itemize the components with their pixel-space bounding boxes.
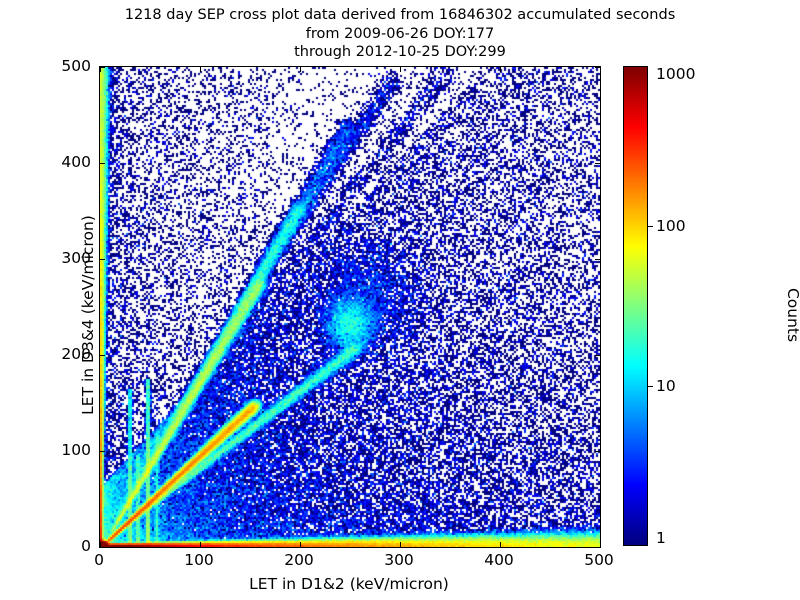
y-tick-mark bbox=[100, 547, 105, 548]
x-tick-label: 200 bbox=[284, 551, 314, 569]
colorbar-label: Counts bbox=[784, 165, 800, 465]
figure-container: 1218 day SEP cross plot data derived fro… bbox=[0, 0, 800, 600]
colorbar-tick-label: 100 bbox=[656, 217, 686, 235]
y-tick-mark bbox=[595, 355, 600, 356]
y-tick-label: 0 bbox=[40, 537, 91, 555]
x-tick-mark bbox=[600, 67, 601, 72]
x-tick-label: 0 bbox=[94, 551, 104, 569]
chart-title-line-3: through 2012-10-25 DOY:299 bbox=[0, 43, 800, 62]
y-tick-mark bbox=[100, 355, 105, 356]
y-tick-mark bbox=[100, 163, 105, 164]
y-tick-label: 500 bbox=[40, 57, 91, 75]
x-axis-label: LET in D1&2 (keV/micron) bbox=[99, 575, 599, 593]
y-tick-mark bbox=[595, 67, 600, 68]
x-tick-mark bbox=[400, 67, 401, 72]
y-tick-mark bbox=[100, 451, 105, 452]
colorbar-tick-mark bbox=[648, 386, 653, 387]
x-tick-mark bbox=[400, 542, 401, 547]
colorbar-gradient bbox=[623, 66, 648, 546]
chart-title-line-1: 1218 day SEP cross plot data derived fro… bbox=[0, 6, 800, 25]
x-tick-mark bbox=[200, 67, 201, 72]
x-tick-mark bbox=[300, 542, 301, 547]
colorbar-tick-mark bbox=[648, 226, 653, 227]
x-tick-label: 400 bbox=[484, 551, 514, 569]
y-tick-mark bbox=[595, 163, 600, 164]
y-tick-mark bbox=[100, 259, 105, 260]
colorbar-container: 1101001000 bbox=[623, 66, 648, 546]
y-tick-mark bbox=[595, 259, 600, 260]
x-tick-mark bbox=[600, 542, 601, 547]
x-tick-mark bbox=[500, 542, 501, 547]
chart-title-line-2: from 2009-06-26 DOY:177 bbox=[0, 25, 800, 44]
y-tick-mark bbox=[100, 67, 105, 68]
colorbar-tick-label: 1000 bbox=[656, 65, 695, 83]
y-axis-label: LET in D3&4 (keV/micron) bbox=[79, 165, 97, 465]
y-tick-mark bbox=[595, 451, 600, 452]
x-tick-label: 500 bbox=[584, 551, 614, 569]
colorbar-tick-label: 1 bbox=[656, 529, 666, 547]
y-tick-mark bbox=[595, 547, 600, 548]
scatter-heatmap-canvas bbox=[100, 67, 600, 547]
x-tick-label: 300 bbox=[384, 551, 414, 569]
chart-title: 1218 day SEP cross plot data derived fro… bbox=[0, 6, 800, 62]
x-tick-mark bbox=[500, 67, 501, 72]
plot-axes bbox=[99, 66, 601, 548]
x-tick-label: 100 bbox=[184, 551, 214, 569]
x-tick-mark bbox=[300, 67, 301, 72]
colorbar-tick-label: 10 bbox=[656, 377, 676, 395]
x-tick-mark bbox=[200, 542, 201, 547]
